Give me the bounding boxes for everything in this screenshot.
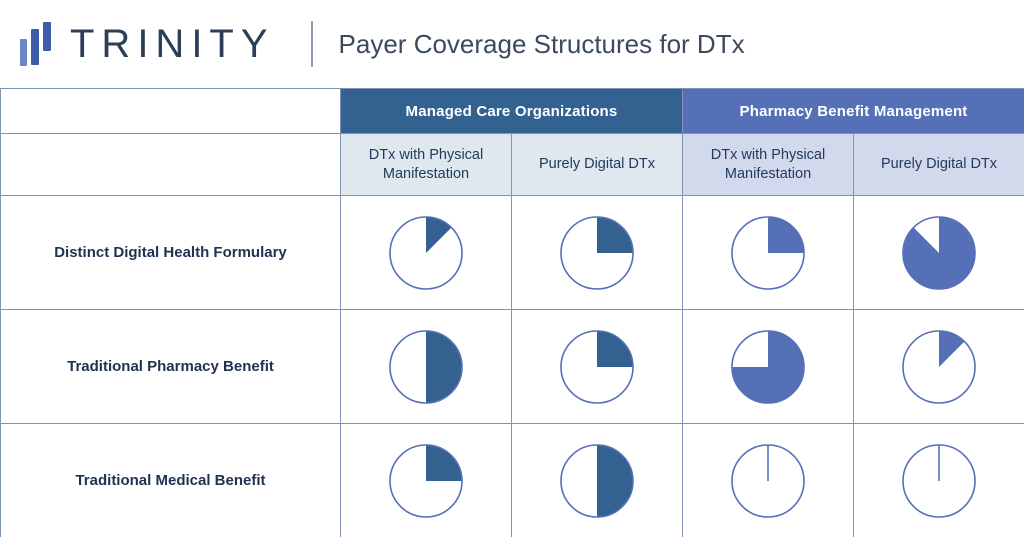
pie-chart-icon	[683, 213, 853, 293]
sub-header-pbm-physical: DTx with Physical Manifestation	[683, 134, 854, 196]
sub-header-pbm-digital: Purely Digital DTx	[854, 134, 1024, 196]
table-body: Distinct Digital Health FormularyTraditi…	[1, 196, 1024, 537]
pie-cell-r0-c1	[512, 196, 683, 310]
table-row: Traditional Pharmacy Benefit	[1, 310, 1024, 424]
logo-bar-2	[31, 29, 39, 65]
pie-chart-icon	[683, 327, 853, 407]
pie-cell-r1-c2	[683, 310, 854, 424]
pie-chart-icon	[512, 327, 682, 407]
pie-chart-icon	[512, 213, 682, 293]
sub-header-mco-physical: DTx with Physical Manifestation	[341, 134, 512, 196]
corner-cell	[1, 89, 341, 134]
pie-cell-r0-c3	[854, 196, 1024, 310]
pie-cell-r1-c1	[512, 310, 683, 424]
pie-cell-r2-c2	[683, 424, 854, 537]
pie-chart-icon	[341, 213, 511, 293]
pie-chart-icon	[854, 213, 1024, 293]
pie-chart-icon	[854, 441, 1024, 521]
trinity-bars-logo-icon	[18, 21, 58, 67]
pie-cell-r0-c0	[341, 196, 512, 310]
group-header-managed-care-organizations: Managed Care Organizations	[341, 89, 683, 134]
pie-chart-icon	[512, 441, 682, 521]
page-title: Payer Coverage Structures for DTx	[339, 29, 745, 60]
pie-cell-r2-c0	[341, 424, 512, 537]
brand-wordmark: TRINITY	[70, 24, 275, 64]
pie-chart-icon	[854, 327, 1024, 407]
pie-chart-icon	[341, 327, 511, 407]
group-header-row: Managed Care Organizations Pharmacy Bene…	[1, 89, 1024, 134]
group-header-pharmacy-benefit-management: Pharmacy Benefit Management	[683, 89, 1024, 134]
title-divider	[311, 21, 313, 67]
table-row: Traditional Medical Benefit	[1, 424, 1024, 537]
pie-cell-r1-c3	[854, 310, 1024, 424]
table-row: Distinct Digital Health Formulary	[1, 196, 1024, 310]
title-bar: TRINITY Payer Coverage Structures for DT…	[0, 0, 1024, 88]
pie-cell-r1-c0	[341, 310, 512, 424]
row-label-2: Traditional Medical Benefit	[1, 424, 341, 537]
pie-cell-r2-c3	[854, 424, 1024, 537]
corner-cell-lower	[1, 134, 341, 196]
coverage-matrix-table: Managed Care Organizations Pharmacy Bene…	[0, 88, 1024, 537]
table-header: Managed Care Organizations Pharmacy Bene…	[1, 89, 1024, 196]
pie-chart-icon	[341, 441, 511, 521]
pie-chart-icon	[683, 441, 853, 521]
logo-bar-3	[43, 22, 51, 51]
pie-cell-r2-c1	[512, 424, 683, 537]
pie-cell-r0-c2	[683, 196, 854, 310]
sub-header-mco-digital: Purely Digital DTx	[512, 134, 683, 196]
row-label-1: Traditional Pharmacy Benefit	[1, 310, 341, 424]
row-label-0: Distinct Digital Health Formulary	[1, 196, 341, 310]
sub-header-row: DTx with Physical Manifestation Purely D…	[1, 134, 1024, 196]
logo-bar-1	[20, 39, 27, 66]
